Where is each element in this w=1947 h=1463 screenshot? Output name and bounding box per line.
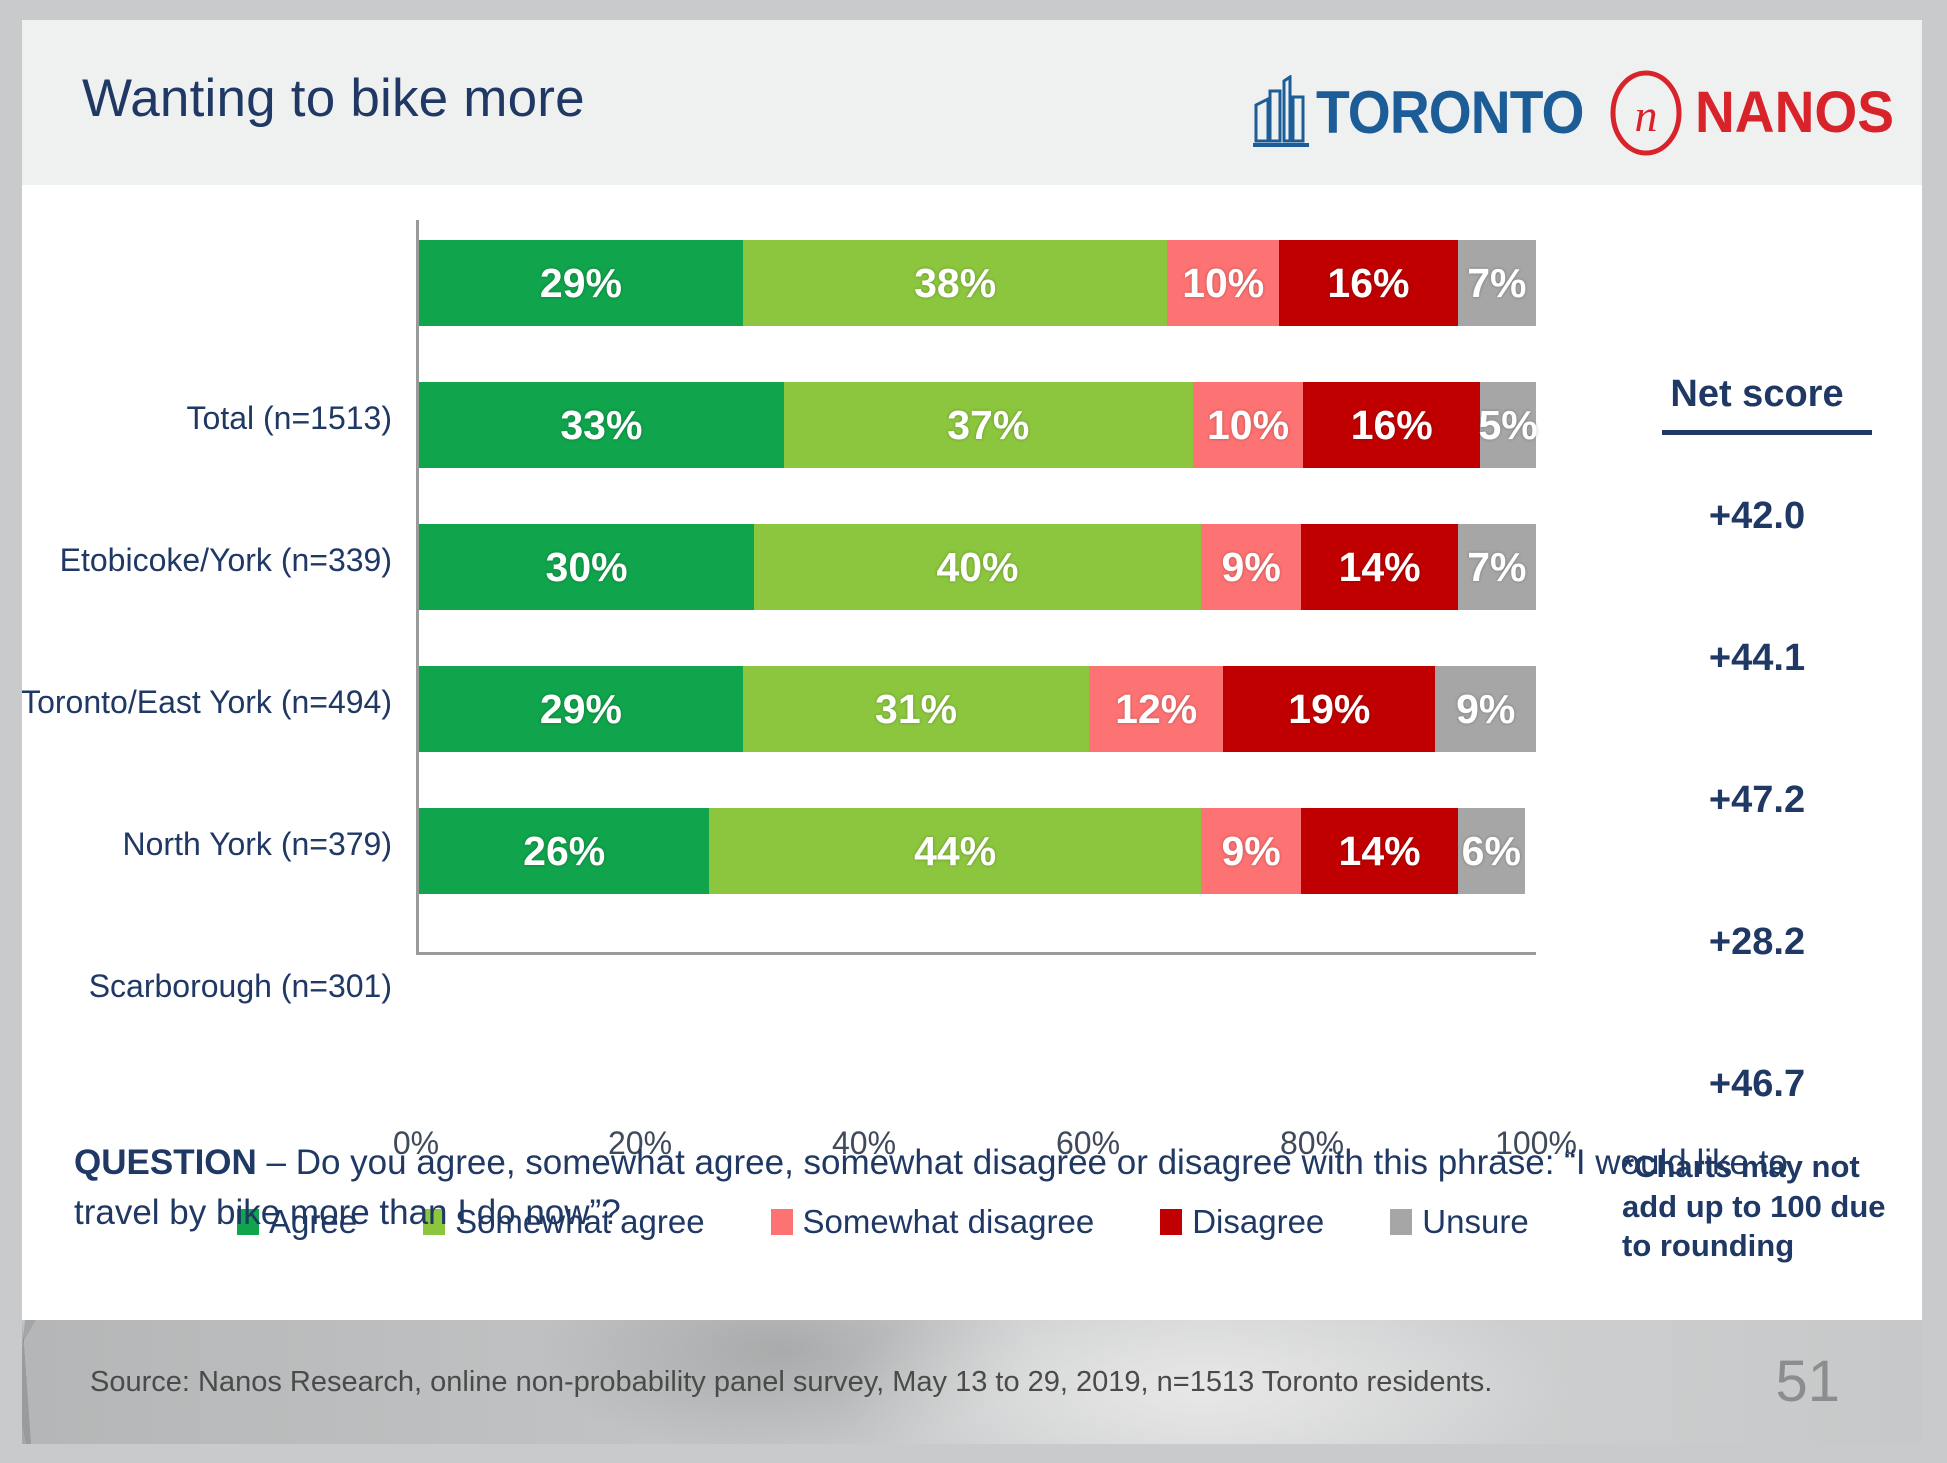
plot-area: 29%38%10%16%7% 33%37%10%16%5% 30%40%9%14…: [416, 220, 1536, 955]
bar-segment: 7%: [1458, 524, 1536, 610]
stacked-bar-chart: Total (n=1513) Etobicoke/York (n=339) To…: [22, 185, 1922, 945]
bar-segment: 7%: [1458, 240, 1536, 326]
bar-segment: 26%: [419, 808, 709, 894]
category-label: Toronto/East York (n=494): [22, 684, 392, 721]
bar-segment: 30%: [419, 524, 754, 610]
bar-segment-label: 29%: [540, 260, 622, 307]
bar-segment-label: 9%: [1222, 544, 1281, 591]
question-text: QUESTION – Do you agree, somewhat agree,…: [74, 1138, 1874, 1237]
bar-segment: 16%: [1279, 240, 1458, 326]
bar-segment: 12%: [1089, 666, 1223, 752]
bar-segment-label: 16%: [1351, 402, 1433, 449]
toronto-wordmark: TORONTO: [1316, 83, 1584, 143]
bar-segment: 29%: [419, 666, 743, 752]
nanos-logo: n NANOS: [1607, 68, 1904, 158]
bar-segment: 10%: [1193, 382, 1304, 468]
net-score-value: +28.2: [1612, 921, 1902, 964]
bar-segment: 33%: [419, 382, 784, 468]
bar-row: 29%38%10%16%7%: [419, 240, 1536, 326]
bar-row: 33%37%10%16%5%: [419, 382, 1536, 468]
bar-segment-label: 44%: [914, 828, 996, 875]
bar-segment-label: 31%: [875, 686, 957, 733]
category-label: Scarborough (n=301): [22, 968, 392, 1005]
bar-segment-label: 10%: [1207, 402, 1289, 449]
bar-segment: 37%: [784, 382, 1193, 468]
bar-segment: 9%: [1435, 666, 1536, 752]
bar-segment-label: 38%: [914, 260, 996, 307]
bar-segment-label: 16%: [1327, 260, 1409, 307]
category-label: Total (n=1513): [22, 400, 392, 437]
footer: Source: Nanos Research, online non-proba…: [22, 1320, 1922, 1444]
bar-segment-label: 5%: [1478, 402, 1537, 449]
category-label: Etobicoke/York (n=339): [22, 542, 392, 579]
bar-segment: 16%: [1303, 382, 1480, 468]
n-in-circle-icon: n: [1607, 70, 1685, 156]
bar-segment-label: 19%: [1288, 686, 1370, 733]
bar-segment-label: 33%: [560, 402, 642, 449]
bar-row: 30%40%9%14%7%: [419, 524, 1536, 610]
net-score-value: +42.0: [1612, 495, 1902, 538]
page-number: 51: [1775, 1348, 1840, 1415]
source-note: Source: Nanos Research, online non-proba…: [90, 1366, 1492, 1399]
question-prefix: QUESTION: [74, 1143, 257, 1182]
page-title: Wanting to bike more: [82, 68, 585, 129]
category-label: North York (n=379): [22, 826, 392, 863]
bar-segment: 5%: [1480, 382, 1536, 468]
net-score-value: +47.2: [1612, 779, 1902, 822]
net-score-value: +46.7: [1612, 1063, 1902, 1106]
bar-segment: 9%: [1201, 808, 1302, 894]
bar-segment-label: 37%: [947, 402, 1029, 449]
bar-segment-label: 10%: [1182, 260, 1264, 307]
bar-segment-label: 6%: [1462, 828, 1521, 875]
bar-segment-label: 9%: [1222, 828, 1281, 875]
bar-segment-label: 9%: [1456, 686, 1515, 733]
bar-segment: 14%: [1301, 808, 1457, 894]
bar-segment: 44%: [709, 808, 1200, 894]
svg-text:n: n: [1635, 90, 1658, 141]
bar-segment-label: 7%: [1467, 260, 1526, 307]
bar-segment: 6%: [1458, 808, 1525, 894]
bar-segment: 10%: [1167, 240, 1279, 326]
nanos-wordmark: NANOS: [1695, 84, 1894, 142]
bar-segment: 40%: [754, 524, 1201, 610]
slide: Wanting to bike more TORONTO n NANOS: [22, 20, 1922, 1444]
bar-segment-label: 29%: [540, 686, 622, 733]
question-body: – Do you agree, somewhat agree, somewhat…: [74, 1143, 1788, 1232]
bar-segment: 19%: [1223, 666, 1435, 752]
bar-segment: 14%: [1301, 524, 1457, 610]
bar-segment: 38%: [743, 240, 1167, 326]
bar-segment-label: 14%: [1339, 828, 1421, 875]
bar-segment: 29%: [419, 240, 743, 326]
bar-row: 26%44%9%14%6%: [419, 808, 1536, 894]
bar-segment: 31%: [743, 666, 1089, 752]
net-score-header: Net score: [1612, 373, 1902, 416]
bar-segment-label: 26%: [523, 828, 605, 875]
bar-segment-label: 30%: [546, 544, 628, 591]
bar-segment-label: 14%: [1339, 544, 1421, 591]
city-skyline-icon: [1252, 75, 1310, 151]
bar-segment: 9%: [1201, 524, 1302, 610]
bar-row: 29%31%12%19%9%: [419, 666, 1536, 752]
toronto-logo: TORONTO: [1252, 70, 1607, 156]
bar-segment-label: 7%: [1467, 544, 1526, 591]
net-score-value: +44.1: [1612, 637, 1902, 680]
x-axis-line: [416, 952, 1536, 955]
bar-segment-label: 12%: [1115, 686, 1197, 733]
net-score-underline: [1662, 430, 1872, 435]
bar-segment-label: 40%: [936, 544, 1018, 591]
